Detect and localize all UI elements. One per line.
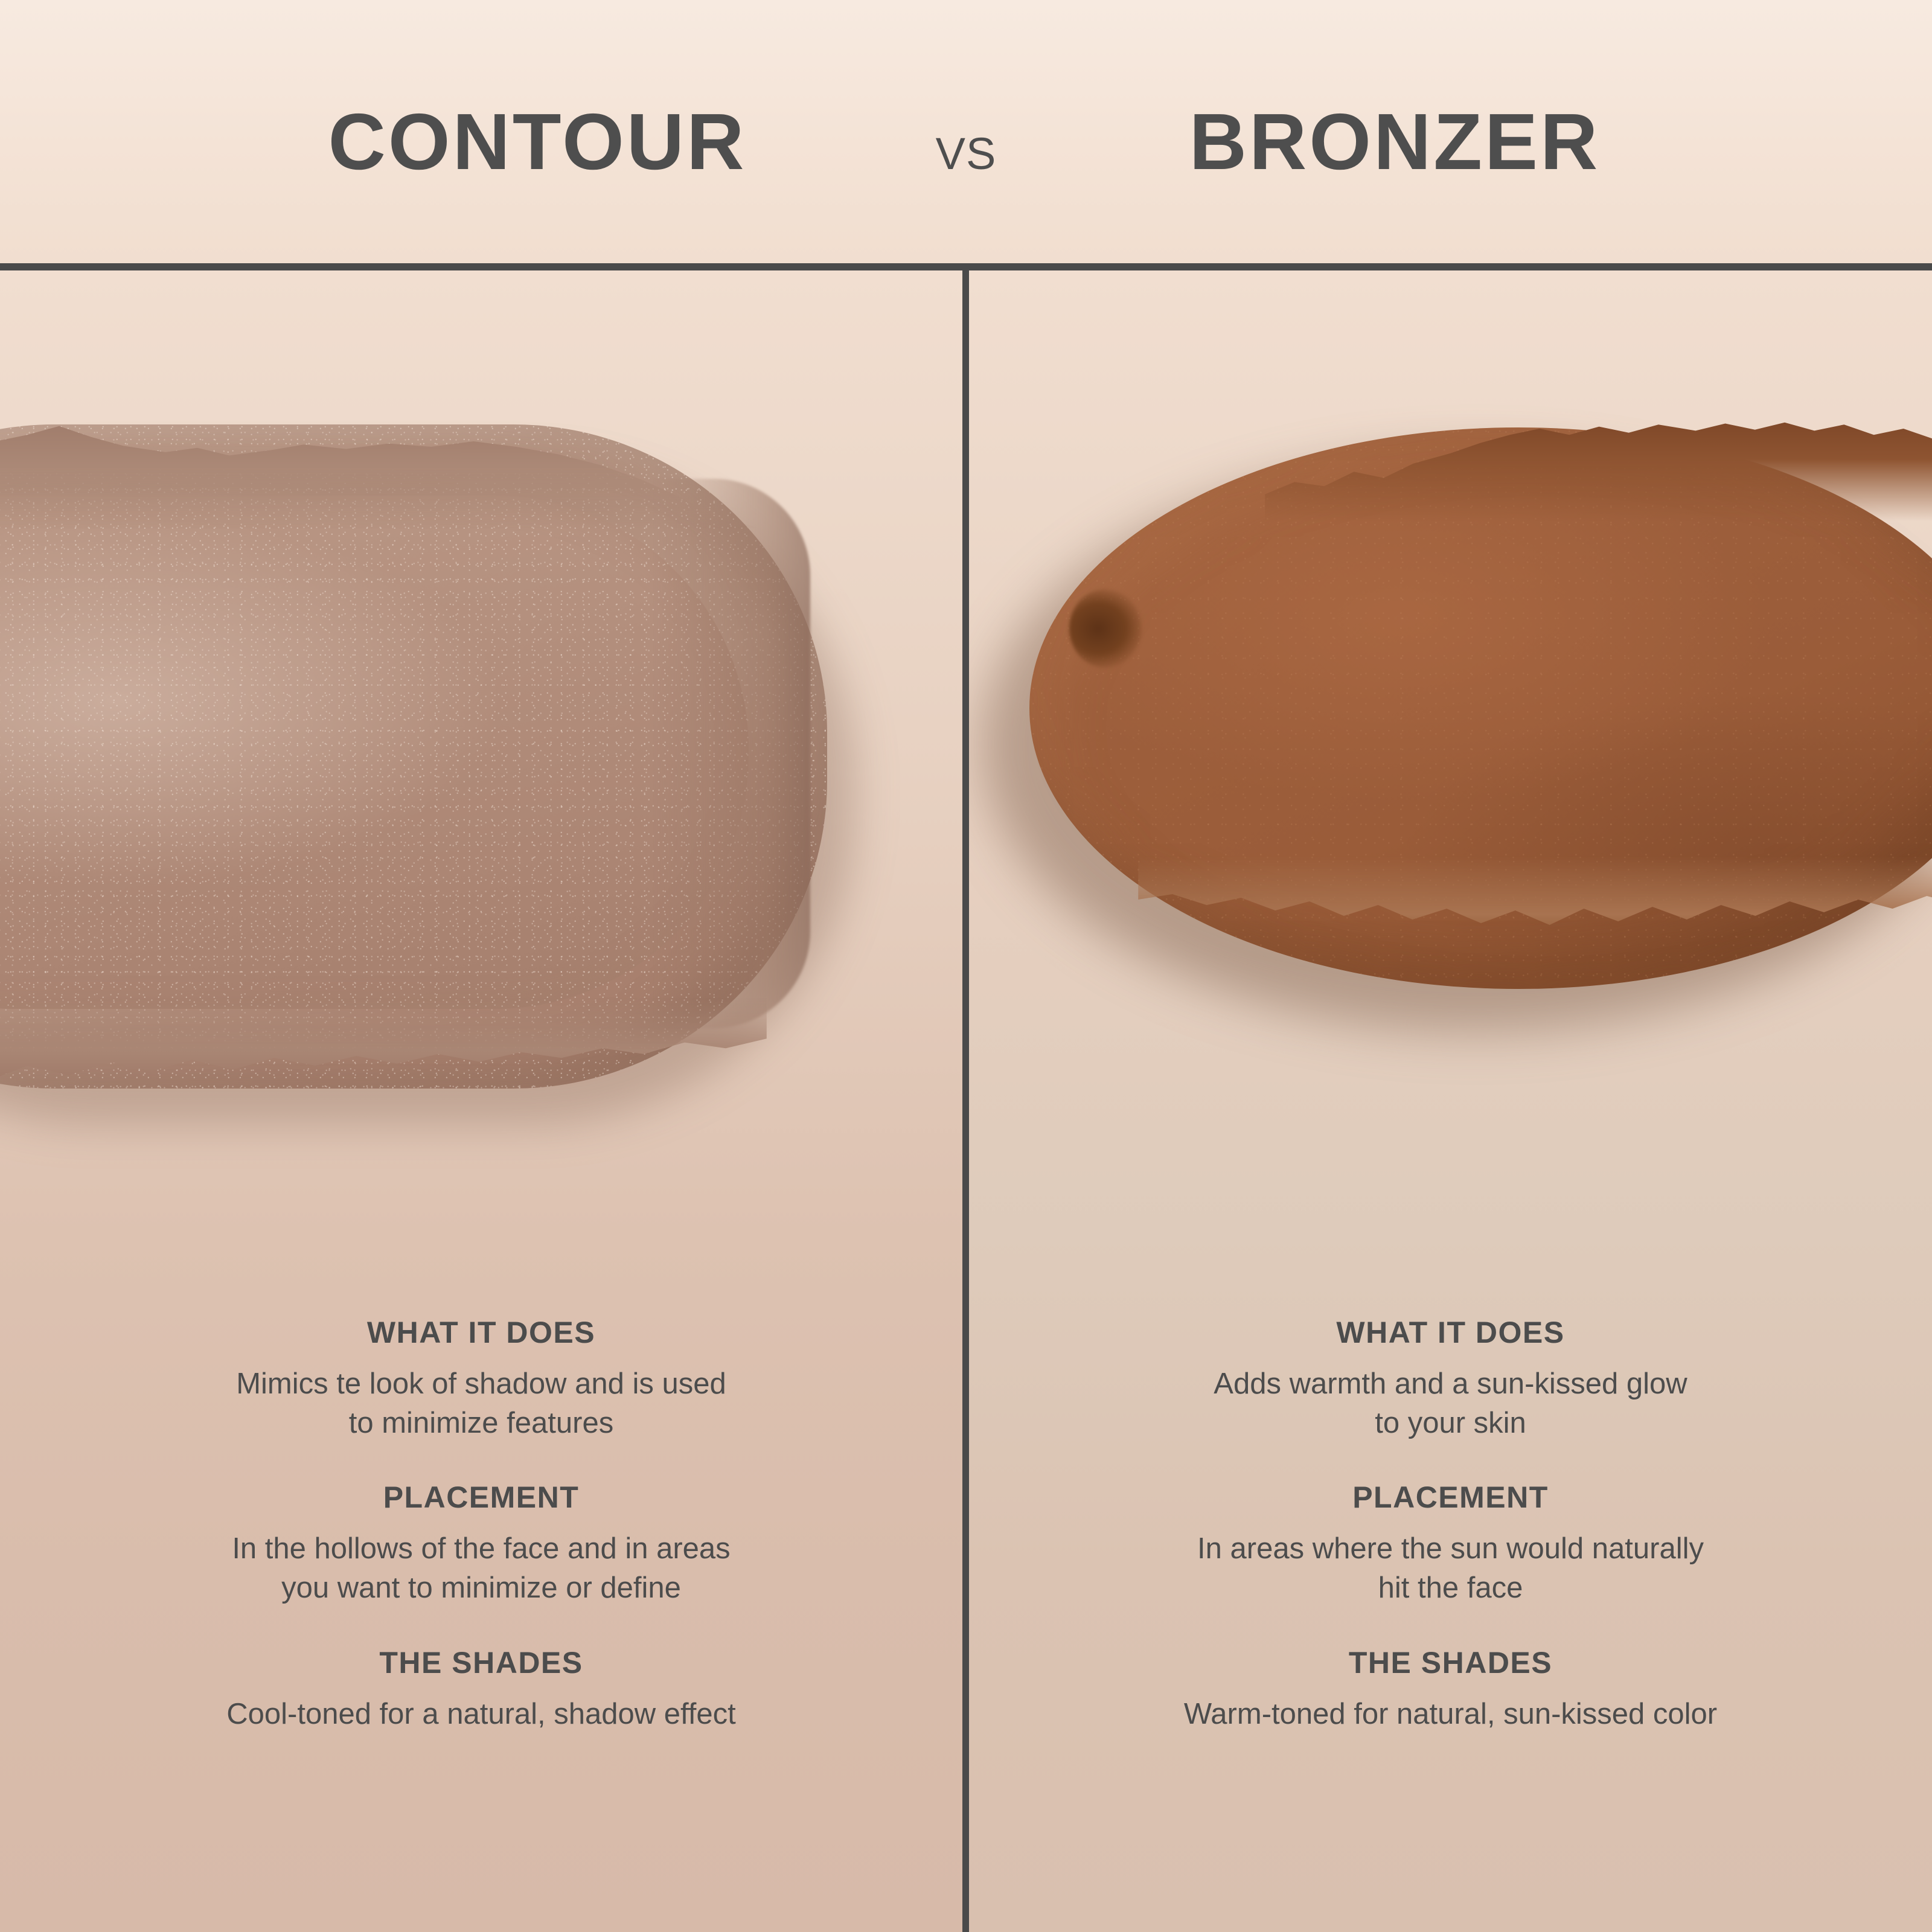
panel-contour: WHAT IT DOES Mimics te look of shadow an… <box>0 270 962 1932</box>
panel-bronzer: WHAT IT DOES Adds warmth and a sun-kisse… <box>969 270 1932 1932</box>
contour-block-the-shades: THE SHADES Cool-toned for a natural, sha… <box>0 1645 962 1734</box>
block-heading: PLACEMENT <box>0 1480 962 1515</box>
block-line: Adds warmth and a sun-kissed glow <box>969 1364 1932 1404</box>
title-bronzer: BRONZER <box>1063 102 1727 182</box>
block-line: Cool-toned for a natural, shadow effect <box>0 1695 962 1734</box>
title-versus-separator: VS <box>869 132 1063 176</box>
contour-copy-column: WHAT IT DOES Mimics te look of shadow an… <box>0 1315 962 1733</box>
contour-block-what-it-does: WHAT IT DOES Mimics te look of shadow an… <box>0 1315 962 1442</box>
bronzer-copy-column: WHAT IT DOES Adds warmth and a sun-kisse… <box>969 1315 1932 1733</box>
vertical-divider <box>962 266 969 1932</box>
block-heading: THE SHADES <box>0 1645 962 1680</box>
contour-swatch-body <box>0 424 827 1089</box>
bronzer-block-what-it-does: WHAT IT DOES Adds warmth and a sun-kisse… <box>969 1315 1932 1442</box>
header-title-row: CONTOUR VS BRONZER <box>0 84 1932 182</box>
header-bar: CONTOUR VS BRONZER <box>0 0 1932 266</box>
comparison-poster: CONTOUR VS BRONZER WHAT IT DOES Mimics t… <box>0 0 1932 1932</box>
block-line: Mimics te look of shadow and is used <box>0 1364 962 1404</box>
block-heading: WHAT IT DOES <box>0 1315 962 1350</box>
contour-cream-swatch <box>0 424 875 1149</box>
block-heading: WHAT IT DOES <box>969 1315 1932 1350</box>
bronzer-block-the-shades: THE SHADES Warm-toned for natural, sun-k… <box>969 1645 1932 1734</box>
block-heading: PLACEMENT <box>969 1480 1932 1515</box>
block-heading: THE SHADES <box>969 1645 1932 1680</box>
block-line: to minimize features <box>0 1404 962 1443</box>
contour-block-placement: PLACEMENT In the hollows of the face and… <box>0 1480 962 1607</box>
contour-swatch-rounded-cap <box>653 479 810 1028</box>
block-line: In areas where the sun would naturally <box>969 1529 1932 1569</box>
block-line: to your skin <box>969 1404 1932 1443</box>
block-line: hit the face <box>969 1569 1932 1608</box>
block-line: you want to minimize or define <box>0 1569 962 1608</box>
title-contour: CONTOUR <box>205 102 869 182</box>
block-line: In the hollows of the face and in areas <box>0 1529 962 1569</box>
bronzer-swatch-notch <box>1069 589 1142 668</box>
bronzer-cream-swatch <box>1005 391 1932 1067</box>
block-line: Warm-toned for natural, sun-kissed color <box>969 1695 1932 1734</box>
bronzer-block-placement: PLACEMENT In areas where the sun would n… <box>969 1480 1932 1607</box>
